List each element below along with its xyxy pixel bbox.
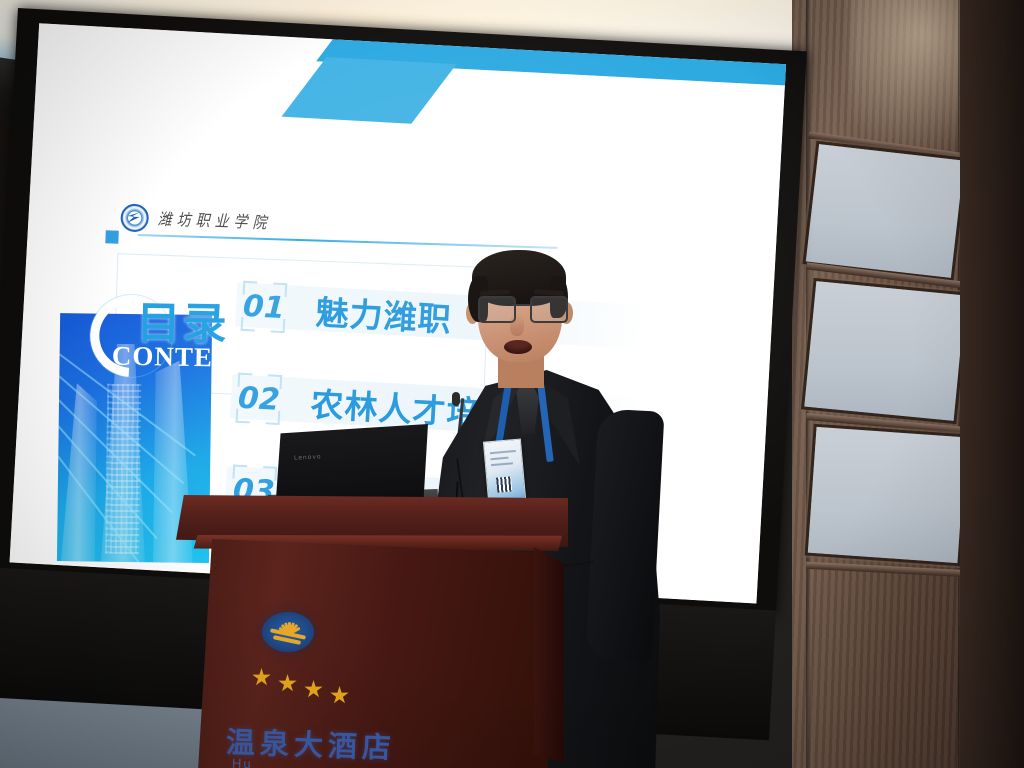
contents-heading-en: CONTENTS bbox=[112, 341, 269, 375]
laptop[interactable]: Lenovo bbox=[276, 424, 428, 502]
screenshot-root: 潍坊职业学院 bbox=[0, 0, 1024, 768]
speaker-mouth bbox=[504, 340, 532, 354]
podium-side-panel bbox=[534, 547, 564, 763]
toc-number-1: 01 bbox=[241, 281, 288, 333]
star-rating bbox=[252, 668, 352, 692]
slide-square-marker bbox=[105, 230, 118, 243]
circular-emblem-icon bbox=[120, 203, 149, 232]
toc-number-box-1: 01 bbox=[241, 281, 288, 333]
wall-panel-1 bbox=[806, 144, 964, 278]
wall-panel-3 bbox=[808, 427, 966, 563]
toc-number-box-2: 02 bbox=[236, 373, 283, 425]
sunrise-over-water-icon bbox=[262, 612, 314, 652]
wood-wall-dark-column bbox=[960, 0, 1024, 768]
speaker-right-arm bbox=[586, 408, 665, 661]
slide-banner-ribbon-tail bbox=[282, 57, 457, 124]
wall-panel-2 bbox=[804, 281, 965, 421]
hotel-name-pinyin: Hu bbox=[232, 756, 253, 768]
speaker-nose bbox=[510, 314, 524, 336]
laptop-brand-label: Lenovo bbox=[294, 453, 322, 461]
institution-logo-text: 潍坊职业学院 bbox=[157, 207, 272, 234]
toc-number-2: 02 bbox=[236, 373, 283, 425]
